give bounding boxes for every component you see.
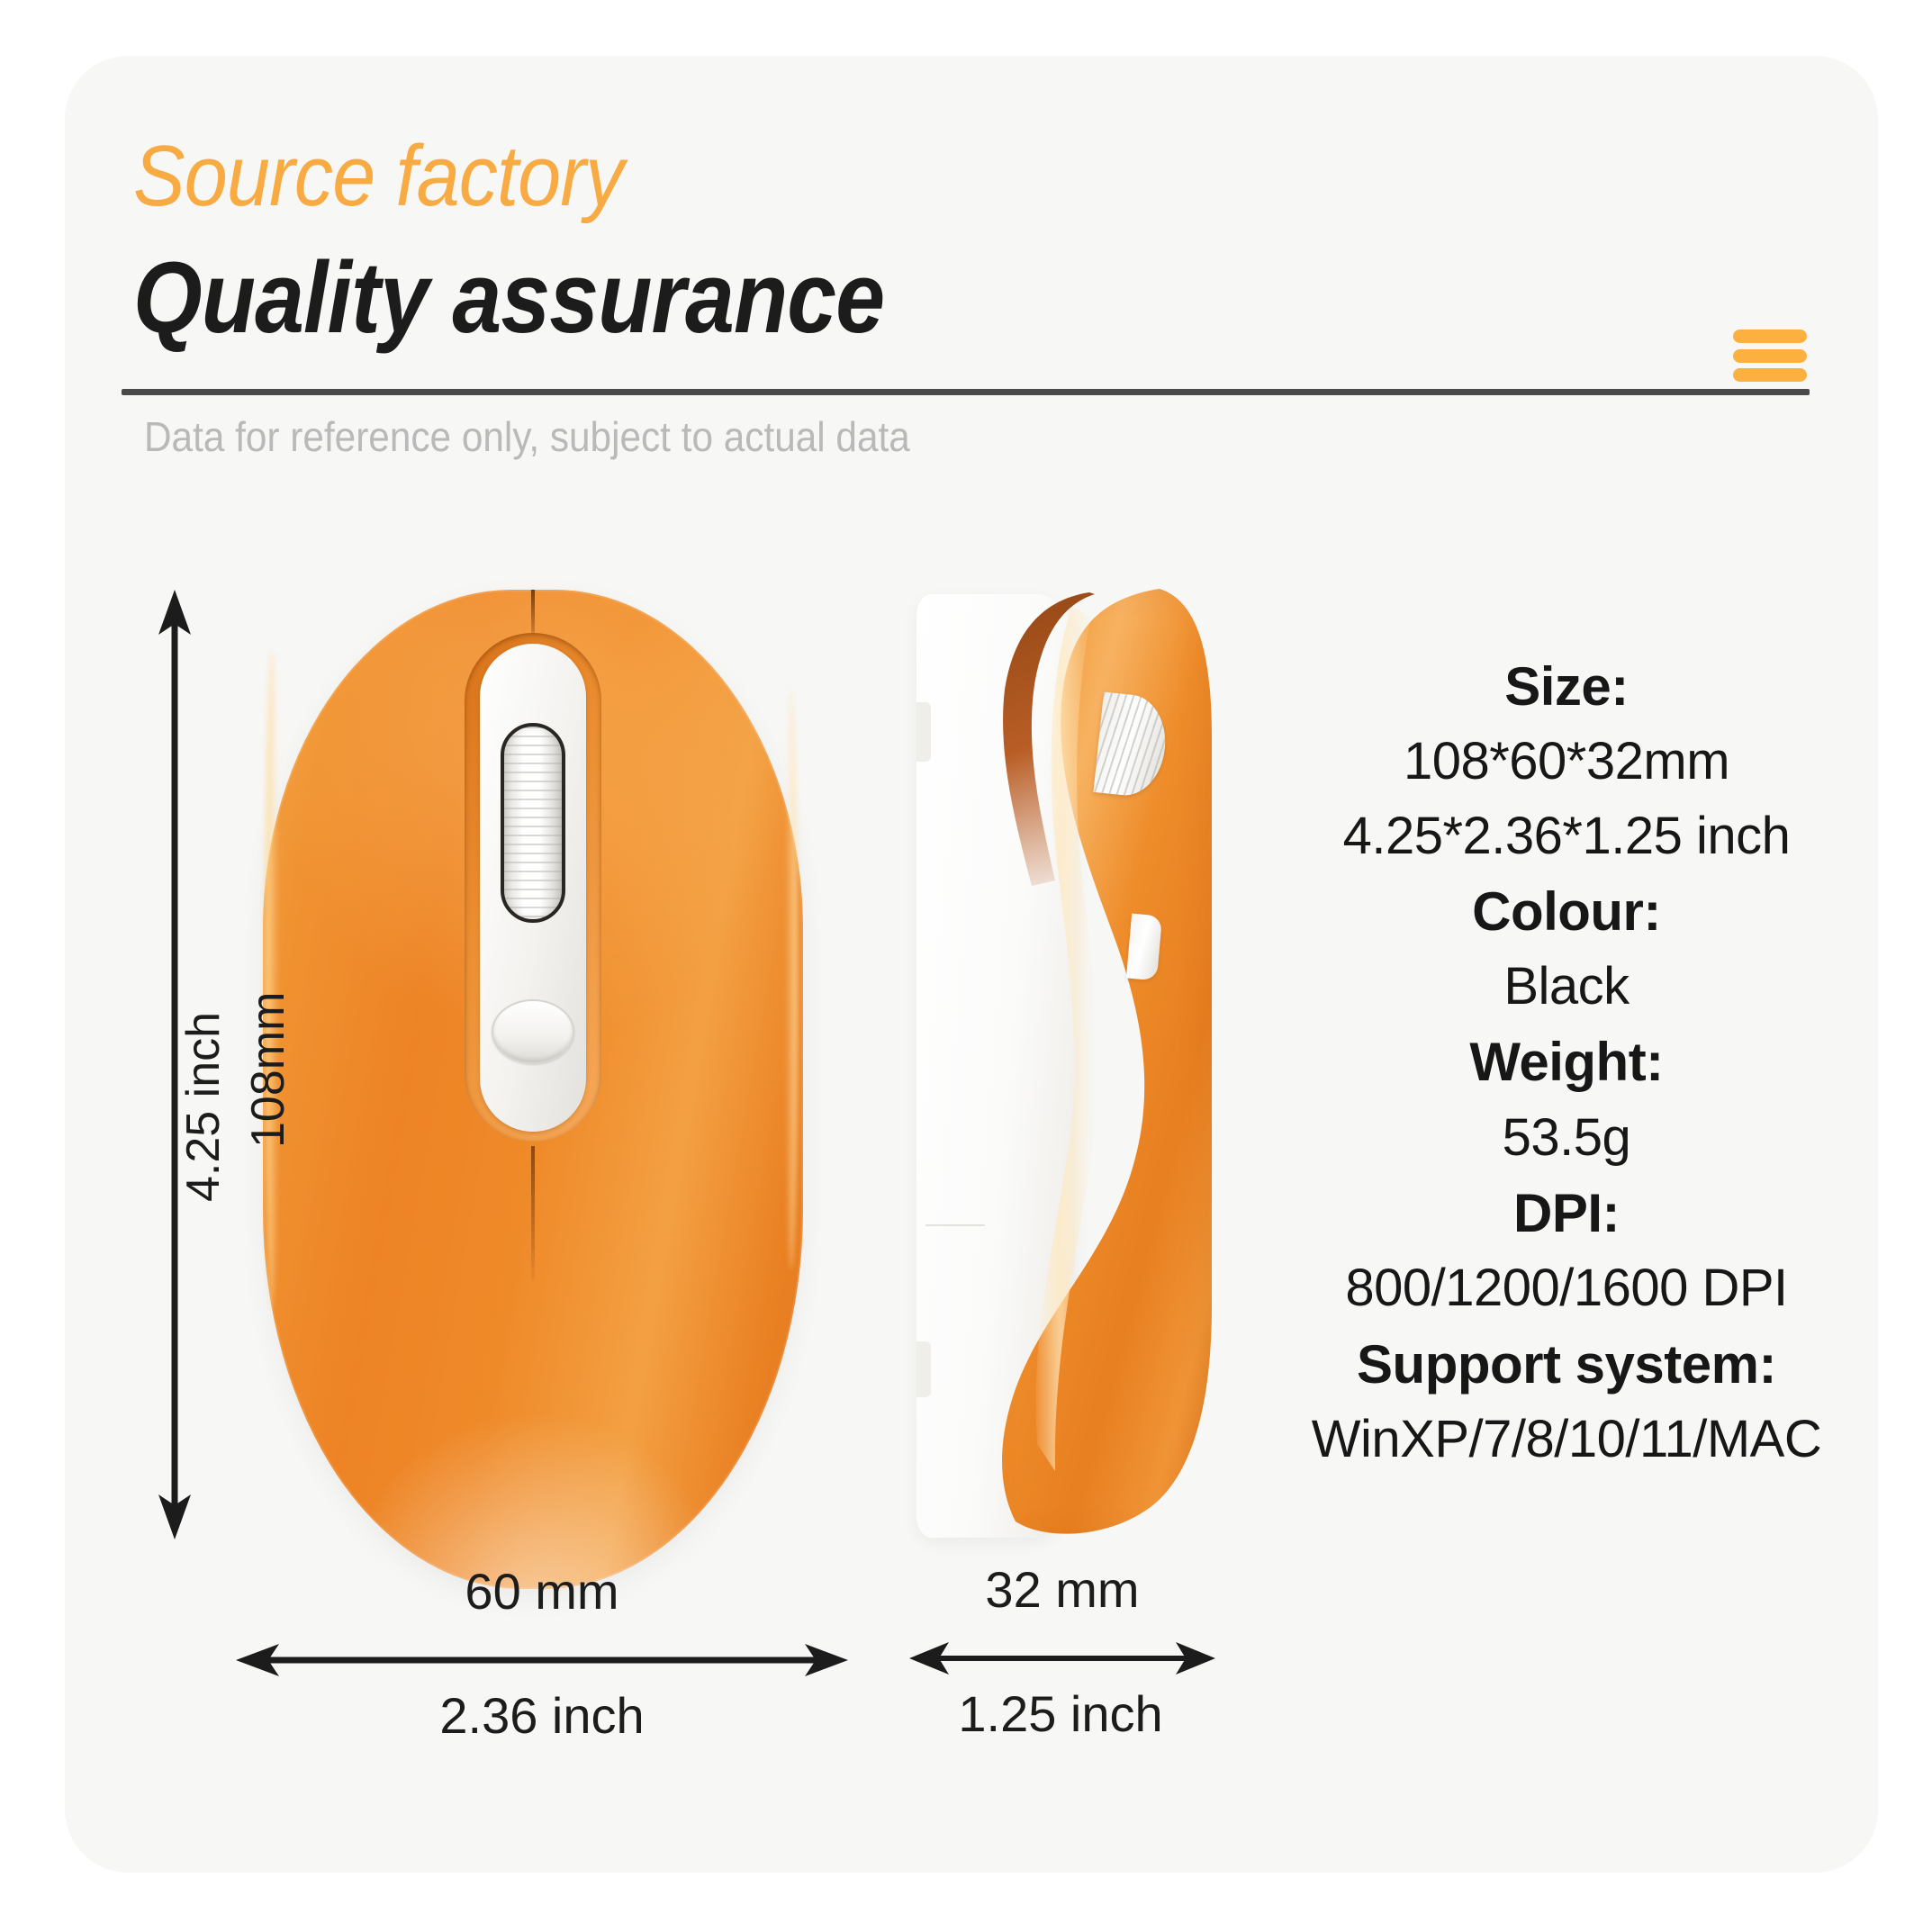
- mouse-top-view: [263, 590, 803, 1589]
- mouse-side-notch-top: [916, 702, 931, 762]
- mouse-top-left-highlight: [265, 650, 279, 1310]
- depth-label-inch: 1.25 inch: [907, 1684, 1214, 1743]
- spec-support-val: WinXP/7/8/10/11/MAC: [1287, 1403, 1846, 1476]
- mouse-top-right-highlight: [785, 690, 798, 1269]
- dpi-button-side: [1126, 914, 1162, 981]
- spec-size-inch: 4.25*2.36*1.25 inch: [1287, 799, 1846, 873]
- scroll-wheel-icon: [501, 723, 565, 923]
- width-dimension-arrow: [236, 1639, 848, 1682]
- mouse-side-notch-bottom: [916, 1341, 931, 1397]
- mouse-side-seam: [925, 1224, 985, 1226]
- page-title: Quality assurance: [133, 248, 884, 348]
- spec-colour-val: Black: [1287, 950, 1846, 1024]
- dpi-button: [492, 999, 574, 1064]
- hamburger-bar-1: [1733, 330, 1807, 343]
- mouse-side-view: [916, 585, 1223, 1544]
- spec-size-key: Size:: [1287, 648, 1846, 725]
- height-label-mm: 108mm: [241, 992, 295, 1148]
- mouse-button-split-bottom: [531, 1146, 535, 1281]
- disclaimer-text: Data for reference only, subject to actu…: [144, 416, 910, 457]
- infographic-page: Source factory Quality assurance Data fo…: [0, 0, 1932, 1932]
- hamburger-bar-3: [1733, 368, 1807, 382]
- spec-size-mm: 108*60*32mm: [1287, 725, 1846, 799]
- header-divider: [122, 389, 1810, 395]
- spec-colour-key: Colour:: [1287, 873, 1846, 950]
- hamburger-bar-2: [1733, 349, 1807, 363]
- spec-weight-val: 53.5g: [1287, 1101, 1846, 1175]
- width-label-inch: 2.36 inch: [236, 1686, 848, 1745]
- hamburger-icon[interactable]: [1733, 330, 1807, 382]
- spec-panel: Size: 108*60*32mm 4.25*2.36*1.25 inch Co…: [1287, 648, 1846, 1476]
- spec-dpi-key: DPI:: [1287, 1175, 1846, 1251]
- depth-dimension-arrow: [909, 1637, 1215, 1680]
- spec-support-key: Support system:: [1287, 1326, 1846, 1403]
- spec-dpi-val: 800/1200/1600 DPI: [1287, 1251, 1846, 1325]
- width-label-mm: 60 mm: [236, 1562, 848, 1621]
- spec-weight-key: Weight:: [1287, 1024, 1846, 1100]
- height-label-inch: 4.25 inch: [176, 1012, 230, 1202]
- depth-label-mm: 32 mm: [909, 1560, 1215, 1619]
- page-title-eyebrow: Source factory: [133, 133, 623, 220]
